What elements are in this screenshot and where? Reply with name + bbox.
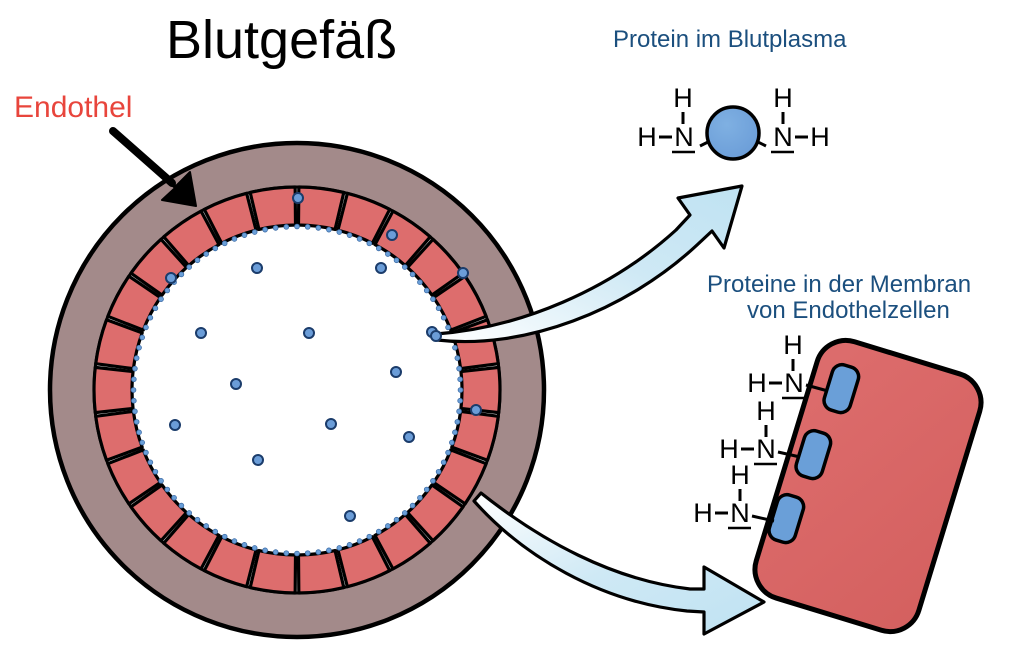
endothelium-membrane-protein-dot <box>394 517 399 522</box>
endothelial-cell <box>250 187 295 229</box>
plasma-right-n: N <box>773 122 793 152</box>
endothelium-membrane-protein-dot <box>195 258 200 263</box>
endothelium-membrane-protein-dot <box>410 272 415 277</box>
endothelium-membrane-protein-dot <box>457 366 462 371</box>
endothelium-membrane-protein-dot <box>347 542 352 547</box>
endothelium-membrane-protein-dot <box>327 548 332 553</box>
endothelium-membrane-protein-dot <box>131 398 136 403</box>
endothelium-membrane-protein-dot <box>385 524 390 529</box>
lumen-protein <box>345 511 355 521</box>
endothelium-membrane-protein-dot <box>140 440 145 445</box>
endothelium-membrane-protein-dot <box>402 265 407 270</box>
endothelium-membrane-protein-dot <box>213 529 218 534</box>
endothelium-membrane-protein-dot <box>140 335 145 340</box>
lumen-protein <box>293 193 303 203</box>
endothelium-membrane-protein-dot <box>165 487 170 492</box>
endothelium-membrane-protein-dot <box>458 388 463 393</box>
membrane-1-h-top: H <box>783 330 803 360</box>
endothelium-membrane-protein-dot <box>144 325 149 330</box>
endothelium-membrane-protein-dot <box>179 503 184 508</box>
endothelium-membrane-protein-dot <box>410 503 415 508</box>
endothelial-cell <box>461 367 500 412</box>
endothelium-membrane-protein-dot <box>159 478 164 483</box>
membrane-3-h-top: H <box>730 460 750 490</box>
endothelium-membrane-protein-dot <box>153 469 158 474</box>
endothelium-membrane-protein-dot <box>455 356 460 361</box>
endothelium-membrane-protein-dot <box>137 430 142 435</box>
lumen-protein <box>253 455 263 465</box>
endothelium-membrane-protein-dot <box>295 224 300 229</box>
endothelium-membrane-protein-dot <box>367 534 372 539</box>
endothelium-membrane-protein-dot <box>284 551 289 556</box>
membrane-amine-group-3: H H N <box>693 460 774 528</box>
endothelium-membrane-protein-dot <box>446 450 451 455</box>
endothelium-membrane-protein-dot <box>232 539 237 544</box>
membrane-2-n: N <box>756 434 776 464</box>
lumen-protein <box>252 263 262 273</box>
endothelium-membrane-protein-dot <box>316 226 321 231</box>
lumen-protein <box>391 367 401 377</box>
endothelium-membrane-protein-dot <box>213 246 218 251</box>
endothelium-membrane-protein-dot <box>436 306 441 311</box>
endothelium-membrane-protein-dot <box>347 233 352 238</box>
lumen-protein <box>387 230 397 240</box>
endothelial-cell <box>298 551 343 593</box>
endothelium-membrane-protein-dot <box>367 241 372 246</box>
membrane-2-h-top: H <box>756 396 776 426</box>
endothelium-membrane-protein-dot <box>252 546 257 551</box>
endothelium-membrane-protein-dot <box>232 237 237 242</box>
plasma-left-h-top: H <box>673 83 693 113</box>
membrane-protein-heading-line1: Proteine in der Membran <box>707 271 971 298</box>
endothelium-membrane-protein-dot <box>446 325 451 330</box>
endothelium-membrane-protein-dot <box>172 495 177 500</box>
endothelium-membrane-protein-dot <box>187 265 192 270</box>
blood-vessel <box>50 143 544 637</box>
plasma-protein-heading: Protein im Blutplasma <box>613 26 847 53</box>
plasma-right-h-top: H <box>773 83 793 113</box>
endothelium-membrane-protein-dot <box>153 306 158 311</box>
endothelium-membrane-protein-dot <box>424 487 429 492</box>
endothelial-cell <box>298 187 343 229</box>
membrane-3-n: N <box>730 498 750 528</box>
plasma-protein-sphere <box>707 107 759 159</box>
endothelium-membrane-protein-dot <box>305 551 310 556</box>
endothelium-membrane-protein-dot <box>144 450 149 455</box>
lumen-protein <box>471 405 481 415</box>
endothelium-membrane-protein-dot <box>458 398 463 403</box>
endothelium-membrane-protein-dot <box>148 315 153 320</box>
endothelium-membrane-protein-dot <box>424 288 429 293</box>
figure-title: Blutgefäß <box>166 10 397 70</box>
endothelium-membrane-protein-dot <box>441 315 446 320</box>
endothelium-membrane-protein-dot <box>263 227 268 232</box>
lumen-protein <box>304 328 314 338</box>
endothelium-membrane-protein-dot <box>273 226 278 231</box>
endothelium-membrane-protein-dot <box>441 460 446 465</box>
endothelium-membrane-protein-dot <box>327 227 332 232</box>
endothelium-membrane-protein-dot <box>337 546 342 551</box>
endothelium-membrane-protein-dot <box>133 409 138 414</box>
endothelium-membrane-protein-dot <box>453 430 458 435</box>
endothelium-membrane-protein-dot <box>165 288 170 293</box>
membrane-protein-heading-line2: von Endothelzellen <box>747 297 950 324</box>
lumen-protein <box>326 419 336 429</box>
endothelium-membrane-protein-dot <box>357 539 362 544</box>
endothelium-membrane-protein-dot <box>134 420 139 425</box>
endothelium-membrane-protein-dot <box>273 550 278 555</box>
endothelium-membrane-protein-dot <box>431 297 436 302</box>
endothelium-membrane-protein-dot <box>137 345 142 350</box>
endothelium-membrane-protein-dot <box>449 440 454 445</box>
endothelial-cell <box>94 367 133 412</box>
endothelial-cell <box>250 551 295 593</box>
lumen-protein <box>196 328 206 338</box>
endothelium-membrane-protein-dot <box>222 241 227 246</box>
figure-root: Blutgefäß Endothel Protein im Blutplasma… <box>0 0 1033 647</box>
endothelium-membrane-protein-dot <box>134 356 139 361</box>
lumen-protein <box>166 273 176 283</box>
endothelium-membrane-protein-dot <box>179 272 184 277</box>
endothelium-membrane-protein-dot <box>295 551 300 556</box>
diagram-canvas: Blutgefäß Endothel Protein im Blutplasma… <box>0 0 1033 647</box>
endothelium-membrane-protein-dot <box>204 252 209 257</box>
endothelium-membrane-protein-dot <box>316 550 321 555</box>
endothelium-membrane-protein-dot <box>457 409 462 414</box>
membrane-3-h-left: H <box>693 498 713 528</box>
endothelium-membrane-protein-dot <box>305 224 310 229</box>
endothelium-membrane-protein-dot <box>337 230 342 235</box>
endothelium-membrane-protein-dot <box>418 495 423 500</box>
endothelium-membrane-protein-dot <box>284 224 289 229</box>
endothelium-membrane-protein-dot <box>148 460 153 465</box>
endothel-label: Endothel <box>14 91 132 124</box>
endothelium-membrane-protein-dot <box>131 388 136 393</box>
plasma-left-h: H <box>637 122 657 152</box>
lumen-protein <box>458 268 468 278</box>
endothelium-membrane-protein-dot <box>357 237 362 242</box>
membrane-1-n: N <box>784 368 804 398</box>
lumen-protein <box>404 432 414 442</box>
endothelium-membrane-protein-dot <box>376 246 381 251</box>
endothelium-membrane-protein-dot <box>133 366 138 371</box>
endothelium-membrane-protein-dot <box>385 252 390 257</box>
endothelium-membrane-protein-dot <box>263 548 268 553</box>
endothelium-membrane-protein-dot <box>436 469 441 474</box>
endothelium-membrane-protein-dot <box>453 345 458 350</box>
endothelium-membrane-protein-dot <box>187 511 192 516</box>
endothelium-membrane-protein-dot <box>431 478 436 483</box>
endothelium-membrane-protein-dot <box>131 377 136 382</box>
endothelium-membrane-protein-dot <box>252 230 257 235</box>
lumen-protein <box>170 420 180 430</box>
plasma-right-h: H <box>810 122 830 152</box>
endothelium-membrane-protein-dot <box>376 529 381 534</box>
endothelium-membrane-protein-dot <box>458 377 463 382</box>
plasma-left-n: N <box>674 122 694 152</box>
endothelium-membrane-protein-dot <box>455 420 460 425</box>
lumen-protein <box>376 263 386 273</box>
endothelium-membrane-protein-dot <box>402 511 407 516</box>
endothelium-membrane-protein-dot <box>195 517 200 522</box>
endothelium-membrane-protein-dot <box>394 258 399 263</box>
plasma-protein-molecule: H H N H N H <box>637 83 830 159</box>
membrane-1-h-left: H <box>747 368 767 398</box>
lumen-protein <box>231 379 241 389</box>
endothelium-membrane-protein-dot <box>159 297 164 302</box>
membrane-amine-group-2: H H N <box>719 396 800 464</box>
endothelium-membrane-protein-dot <box>242 542 247 547</box>
endothelium-membrane-protein-dot <box>418 280 423 285</box>
endothelium-membrane-protein-dot <box>204 524 209 529</box>
endothelium-membrane-protein-dot <box>222 534 227 539</box>
endothelium-membrane-protein-dot <box>242 233 247 238</box>
